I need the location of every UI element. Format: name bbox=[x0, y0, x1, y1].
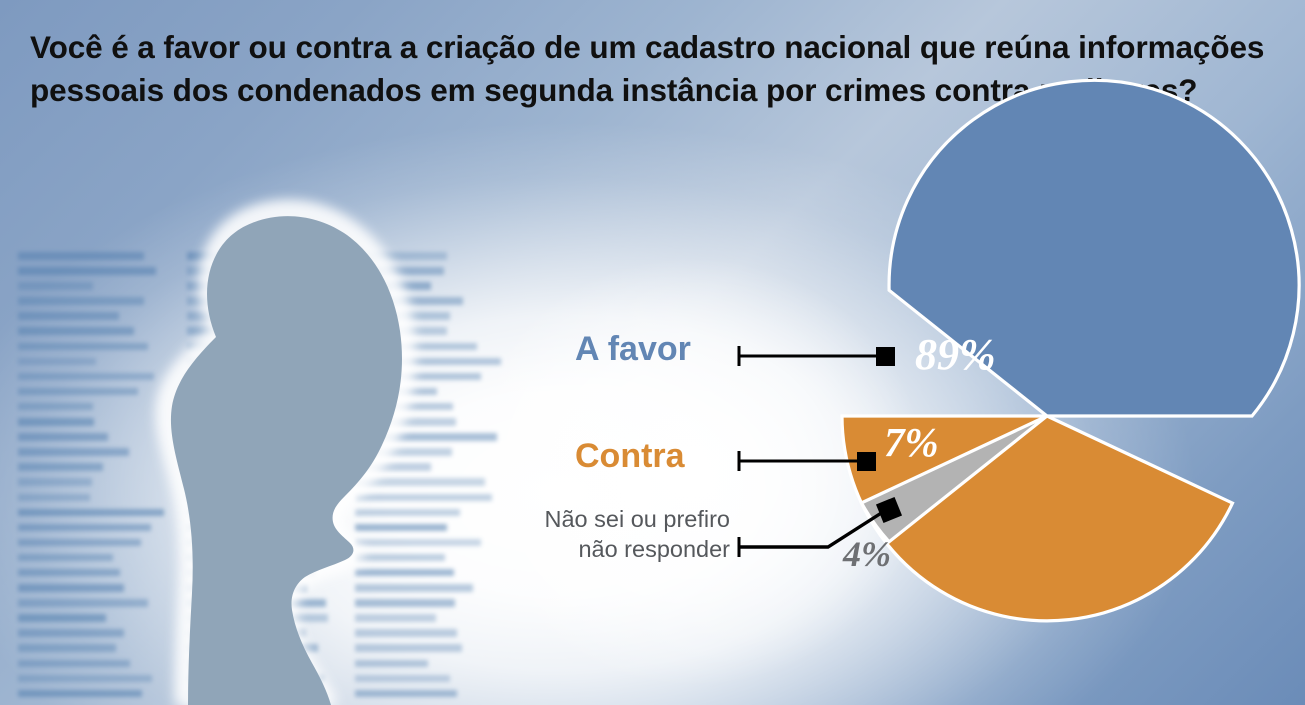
pie-label-a-favor: A favor bbox=[575, 330, 691, 369]
pie-label-contra: Contra bbox=[575, 437, 685, 476]
infographic-canvas: Você é a favor ou contra a criação de um… bbox=[0, 0, 1305, 705]
pie-label-nao-sei-line1: Não sei ou prefiro bbox=[440, 504, 730, 534]
pie-value-nao-sei: 4% bbox=[843, 533, 891, 575]
pie-label-nao-sei: Não sei ou prefiro não responder bbox=[440, 504, 730, 564]
leader-line-a-favor bbox=[739, 346, 895, 366]
leader-marker-contra bbox=[857, 452, 876, 471]
pie-label-nao-sei-line2: não responder bbox=[440, 534, 730, 564]
pie-value-a-favor: 89% bbox=[915, 329, 996, 380]
leader-marker-a-favor bbox=[876, 347, 895, 366]
pie-value-contra: 7% bbox=[884, 418, 939, 466]
